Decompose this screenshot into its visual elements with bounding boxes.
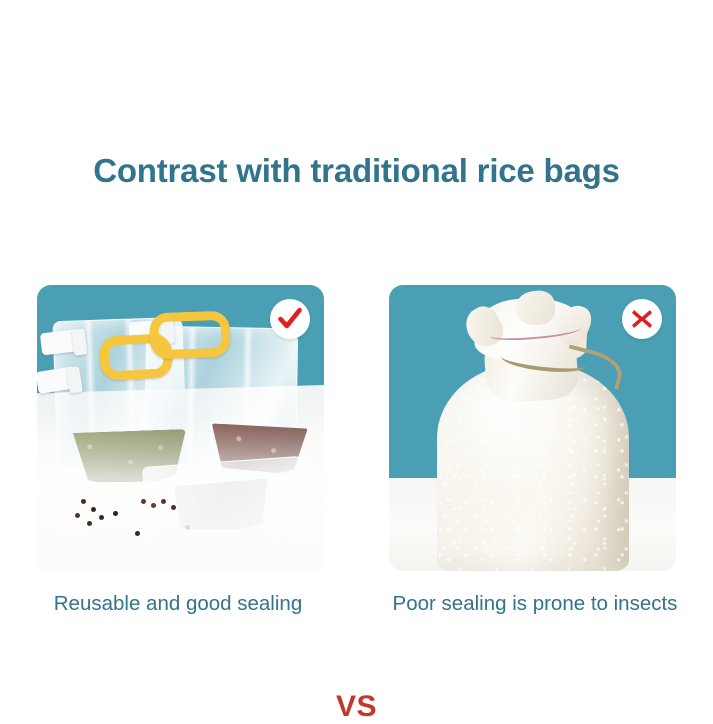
close-icon <box>629 306 655 332</box>
loose-bean <box>185 525 190 530</box>
loose-bean <box>171 505 176 510</box>
loose-bean <box>91 507 96 512</box>
loose-bean <box>75 513 80 518</box>
tabletop-sheen <box>37 413 324 571</box>
loose-bean <box>99 515 104 520</box>
loose-bean <box>113 511 118 516</box>
panel-reusable-bags[interactable] <box>37 285 324 571</box>
loose-bean <box>151 503 156 508</box>
panel-traditional-sack[interactable] <box>389 285 676 571</box>
comparison-section: VS <box>0 285 713 571</box>
caption-traditional: Poor sealing is prone to insects <box>357 592 713 616</box>
loose-bean <box>135 531 140 536</box>
caption-reusable: Reusable and good sealing <box>0 592 356 616</box>
check-badge <box>270 299 310 339</box>
versus-label: VS <box>324 690 389 724</box>
bag-handle-icon <box>149 311 231 360</box>
check-icon <box>277 306 303 332</box>
product-comparison-page: Contrast with traditional rice bags <box>0 0 713 713</box>
cross-badge <box>622 299 662 339</box>
loose-bean <box>87 521 92 526</box>
loose-bean <box>141 499 146 504</box>
loose-bean <box>161 499 166 504</box>
loose-bean <box>81 499 86 504</box>
page-title: Contrast with traditional rice bags <box>0 152 713 190</box>
